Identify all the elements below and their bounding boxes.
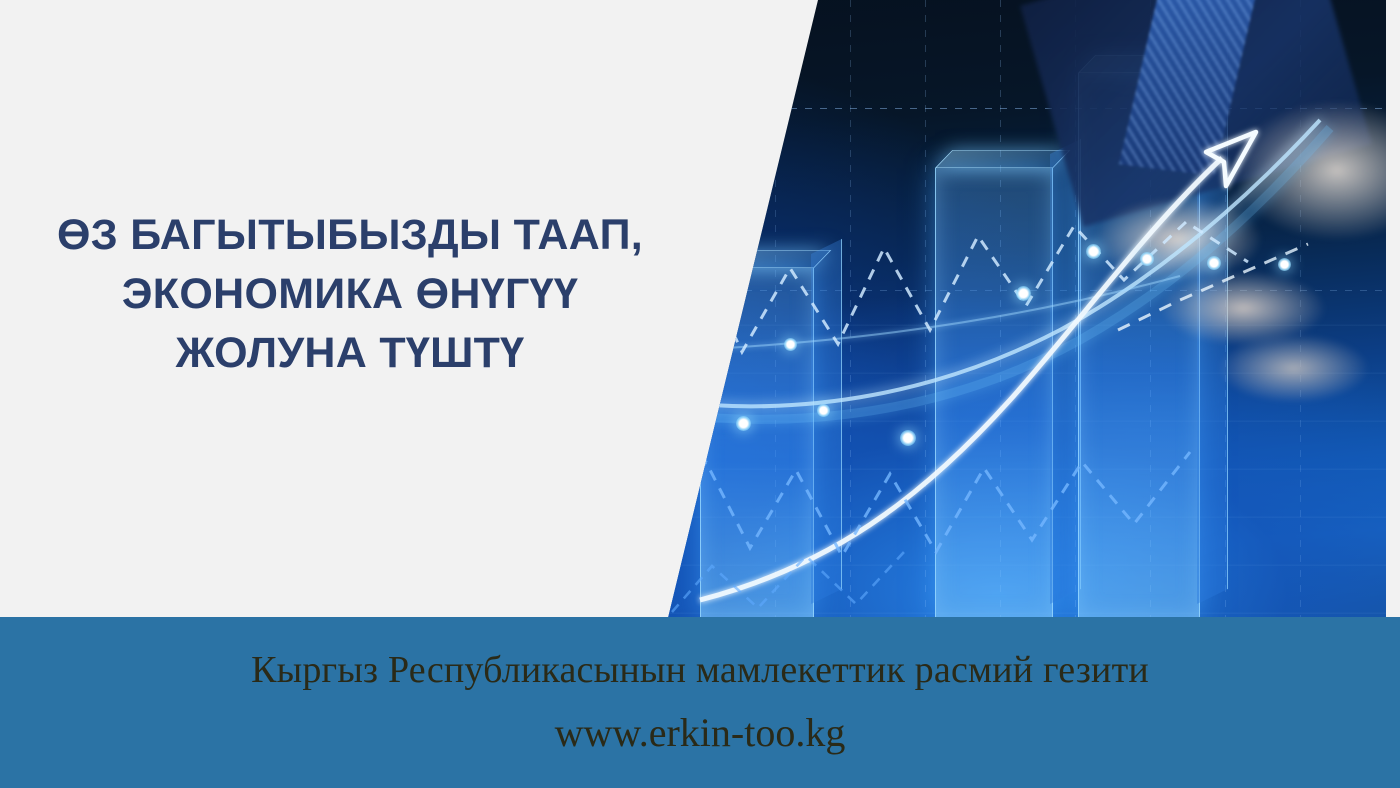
data-point [1278, 258, 1291, 271]
poster-canvas: ӨЗ БАГЫТЫБЫЗДЫ ТААП, ЭКОНОМИКА ӨНҮГҮҮ ЖО… [0, 0, 1400, 788]
headline-line-3: ЖОЛУНА ТҮШТҮ [0, 324, 700, 383]
data-point [1207, 256, 1221, 270]
website-url[interactable]: www.erkin-too.kg [0, 694, 1400, 758]
headline-line-1: ӨЗ БАГЫТЫБЫЗДЫ ТААП, [0, 206, 700, 265]
page-title: ӨЗ БАГЫТЫБЫЗДЫ ТААП, ЭКОНОМИКА ӨНҮГҮҮ ЖО… [0, 206, 700, 383]
right-edge-strip [1386, 0, 1400, 618]
data-point [900, 430, 916, 446]
data-point [1016, 286, 1031, 301]
footer-banner: Кыргыз Республикасынын мамлекеттик расми… [0, 617, 1400, 788]
data-point [817, 404, 830, 417]
newspaper-tagline: Кыргыз Республикасынын мамлекеттик расми… [0, 617, 1400, 694]
headline-line-2: ЭКОНОМИКА ӨНҮГҮҮ [0, 265, 700, 324]
hand-lower [300, 378, 630, 618]
data-point [784, 338, 797, 351]
data-point [1086, 244, 1101, 259]
data-point [1140, 252, 1154, 266]
data-point [736, 416, 751, 431]
